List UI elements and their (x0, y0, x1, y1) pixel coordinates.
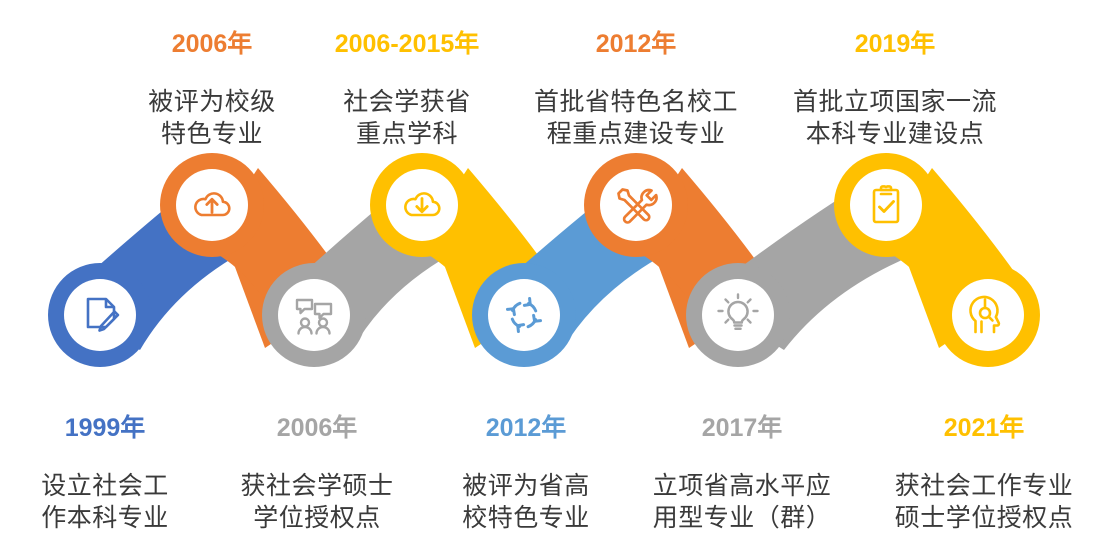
label-year: 1999年 (0, 412, 220, 444)
label-year: 2019年 (760, 28, 1030, 60)
label-description: 获社会工作专业 硕士学位授权点 (862, 470, 1106, 534)
label-description: 获社会学硕士 学位授权点 (202, 470, 432, 534)
label-description: 首批省特色名校工 程重点建设专业 (506, 86, 766, 150)
chain-link-2021 (936, 263, 1040, 367)
timeline-infographic: 2006年 被评为校级 特色专业 2006-2015年 社会学获省 重点学科 2… (0, 0, 1106, 526)
label-year: 2017年 (622, 412, 862, 444)
label-2012-bottom: 2012年 被评为省高 校特色专业 (414, 392, 638, 554)
label-description: 立项省高水平应 用型专业（群） (622, 470, 862, 534)
label-description: 首批立项国家一流 本科专业建设点 (760, 86, 1030, 150)
label-year: 2006-2015年 (282, 28, 532, 60)
label-description: 设立社会工 作本科专业 (0, 470, 220, 534)
label-1999: 1999年 设立社会工 作本科专业 (0, 392, 220, 554)
label-description: 社会学获省 重点学科 (282, 86, 532, 150)
label-2017: 2017年 立项省高水平应 用型专业（群） (622, 392, 862, 554)
label-year: 2006年 (202, 412, 432, 444)
label-description: 被评为省高 校特色专业 (414, 470, 638, 534)
label-2006-bottom: 2006年 获社会学硕士 学位授权点 (202, 392, 432, 554)
label-2012-top: 2012年 首批省特色名校工 程重点建设专业 (506, 8, 766, 170)
label-year: 2012年 (414, 412, 638, 444)
label-2019: 2019年 首批立项国家一流 本科专业建设点 (760, 8, 1030, 170)
label-year: 2021年 (862, 412, 1106, 444)
label-2006-2015: 2006-2015年 社会学获省 重点学科 (282, 8, 532, 170)
label-year: 2012年 (506, 28, 766, 60)
label-2021: 2021年 获社会工作专业 硕士学位授权点 (862, 392, 1106, 554)
